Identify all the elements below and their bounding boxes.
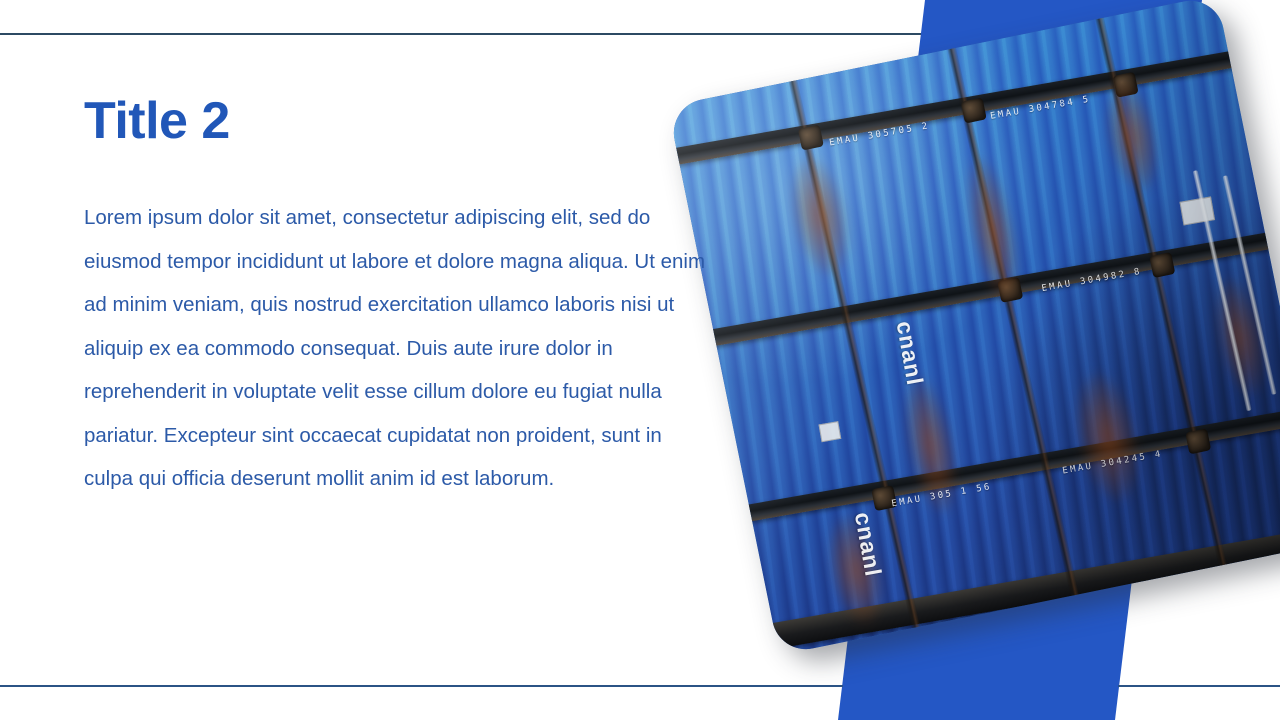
page-title: Title 2 bbox=[84, 93, 230, 149]
container-placard bbox=[818, 421, 841, 442]
bottom-divider-rule bbox=[0, 685, 843, 687]
bottom-divider-rule-right bbox=[1118, 685, 1280, 687]
body-paragraph: Lorem ipsum dolor sit amet, consectetur … bbox=[84, 196, 709, 501]
slide-canvas: EMAU 305705 2 EMAU 304784 5 EMAU 304982 … bbox=[0, 0, 1280, 720]
corner-casting bbox=[961, 97, 987, 123]
container-photo: EMAU 305705 2 EMAU 304784 5 EMAU 304982 … bbox=[668, 0, 1280, 655]
corner-casting bbox=[1150, 252, 1176, 278]
top-divider-rule bbox=[0, 33, 930, 35]
photo-frame: EMAU 305705 2 EMAU 304784 5 EMAU 304982 … bbox=[668, 0, 1280, 655]
corner-casting bbox=[798, 125, 824, 151]
